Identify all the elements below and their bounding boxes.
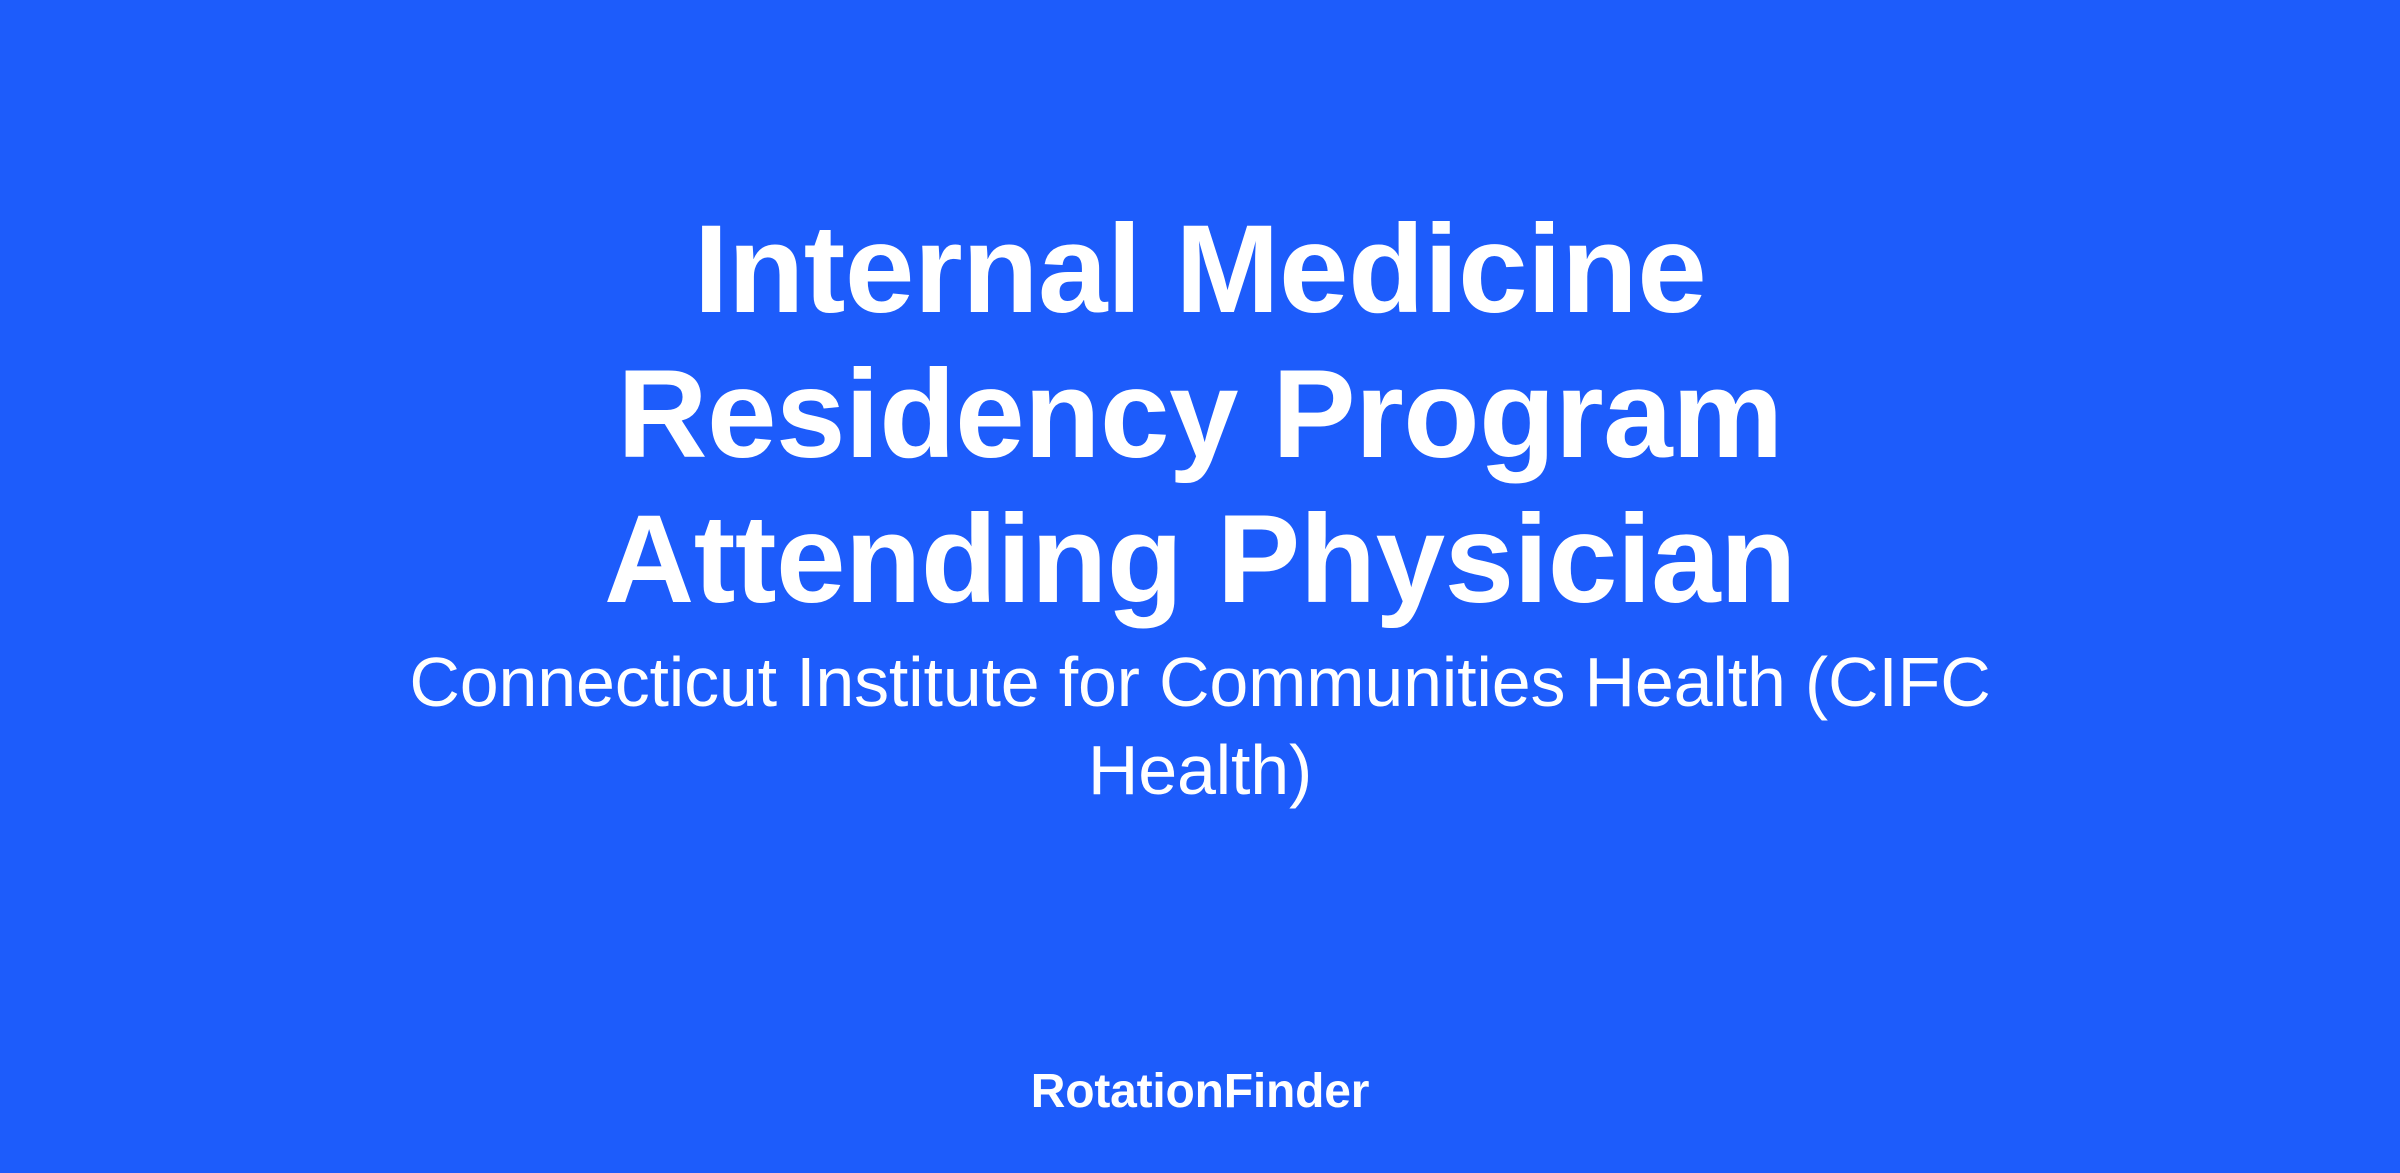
hero-text-block: Internal Medicine Residency Program Atte…: [390, 197, 2010, 814]
hero-section: Internal Medicine Residency Program Atte…: [0, 0, 2400, 1010]
promo-card: Internal Medicine Residency Program Atte…: [0, 0, 2400, 1173]
page-subtitle: Connecticut Institute for Communities He…: [390, 638, 2010, 814]
brand-wordmark: RotationFinder: [1031, 1064, 1370, 1120]
footer-section: RotationFinder: [0, 1010, 2400, 1173]
page-title: Internal Medicine Residency Program Atte…: [390, 197, 2010, 632]
